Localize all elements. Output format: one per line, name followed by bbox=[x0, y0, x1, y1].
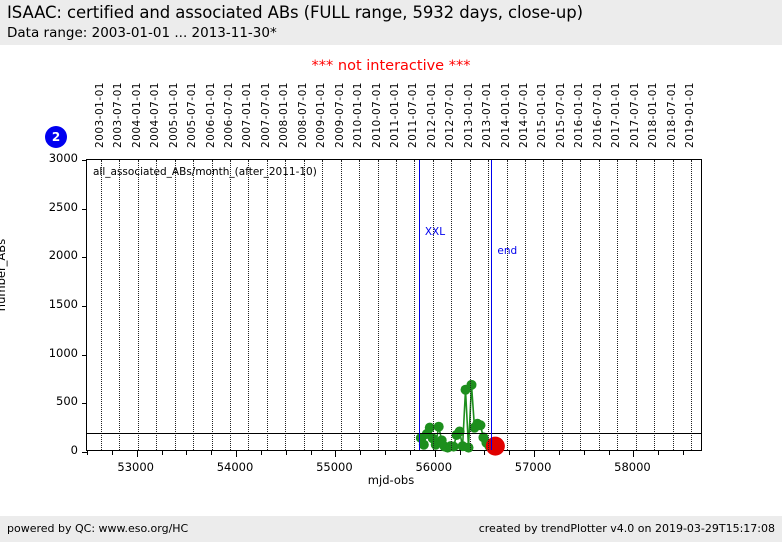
grid-line-vertical bbox=[378, 160, 379, 450]
x-axis-tick-label: 56000 bbox=[399, 460, 469, 474]
y-axis-tick-label: 500 bbox=[32, 394, 78, 408]
x-axis-date-tick-label: 2011-07-01 bbox=[407, 82, 419, 148]
grid-line-vertical bbox=[673, 160, 674, 450]
grid-line-vertical bbox=[230, 160, 231, 450]
x-axis-date-tick-label: 2003-01-01 bbox=[94, 82, 106, 148]
x-axis-date-tick-label: 2006-07-01 bbox=[223, 82, 235, 148]
x-axis-date-tick-label: 2017-01-01 bbox=[610, 82, 622, 148]
x-axis-date-tick-label: 2012-01-01 bbox=[426, 82, 438, 148]
x-axis-minor-tick bbox=[211, 450, 212, 455]
x-axis-date-tick-label: 2015-01-01 bbox=[536, 82, 548, 148]
grid-line-vertical bbox=[580, 160, 581, 450]
grid-line-vertical bbox=[654, 160, 655, 450]
x-axis-minor-tick bbox=[261, 450, 262, 455]
x-axis-tick-label: 53000 bbox=[101, 460, 171, 474]
grid-line-vertical bbox=[101, 160, 102, 450]
y-axis-tick-label: 3000 bbox=[32, 151, 78, 165]
annotation-vline-end bbox=[491, 160, 492, 450]
grid-line-vertical bbox=[322, 160, 323, 450]
x-axis-date-tick-label: 2014-01-01 bbox=[500, 82, 512, 148]
data-point bbox=[434, 422, 444, 432]
x-axis-tick-label: 54000 bbox=[200, 460, 270, 474]
grid-line-vertical bbox=[617, 160, 618, 450]
x-axis-date-tick-label: 2011-01-01 bbox=[389, 82, 401, 148]
footer-credit-left: powered by QC: www.eso.org/HC bbox=[7, 522, 188, 535]
grid-line-vertical bbox=[267, 160, 268, 450]
grid-line-vertical bbox=[433, 160, 434, 450]
x-axis-minor-tick bbox=[584, 450, 585, 455]
x-axis-minor-tick bbox=[186, 450, 187, 455]
x-axis-date-tick-label: 2007-07-01 bbox=[260, 82, 272, 148]
x-axis-tick-label: 57000 bbox=[498, 460, 568, 474]
y-axis-tick-label: 2500 bbox=[32, 200, 78, 214]
x-axis-tick bbox=[137, 450, 138, 457]
x-axis-date-tick-label: 2017-07-01 bbox=[629, 82, 641, 148]
grid-line-vertical bbox=[304, 160, 305, 450]
x-axis-date-tick-label: 2007-01-01 bbox=[241, 82, 253, 148]
annotation-vline-xxl bbox=[419, 160, 420, 450]
x-axis-date-tick-label: 2010-07-01 bbox=[371, 82, 383, 148]
x-axis-date-tick-label: 2004-01-01 bbox=[131, 82, 143, 148]
grid-line-vertical bbox=[138, 160, 139, 450]
x-axis-date-tick-label: 2016-07-01 bbox=[592, 82, 604, 148]
y-axis-tick bbox=[82, 452, 87, 453]
x-axis-tick bbox=[633, 450, 634, 457]
x-axis-date-tick-label: 2004-07-01 bbox=[149, 82, 161, 148]
y-axis-tick bbox=[82, 257, 87, 258]
grid-line-vertical bbox=[636, 160, 637, 450]
x-axis-date-tick-label: 2018-01-01 bbox=[647, 82, 659, 148]
x-axis-date-tick-label: 2019-01-01 bbox=[684, 82, 696, 148]
chart-plot-area: all_associated_ABs/month_(after_2011-10)… bbox=[86, 159, 702, 451]
x-axis-minor-tick bbox=[87, 450, 88, 455]
grid-line-vertical bbox=[451, 160, 452, 450]
x-axis-date-tick-label: 2008-01-01 bbox=[278, 82, 290, 148]
not-interactive-notice: *** not interactive *** bbox=[0, 58, 782, 74]
y-axis-tick-label: 2000 bbox=[32, 248, 78, 262]
x-axis-minor-tick bbox=[311, 450, 312, 455]
grid-line-vertical bbox=[212, 160, 213, 450]
data-point bbox=[475, 420, 485, 430]
y-axis-label: number_ABs bbox=[0, 239, 8, 311]
x-axis-tick-label: 58000 bbox=[597, 460, 667, 474]
grid-line-vertical bbox=[562, 160, 563, 450]
x-axis-minor-tick bbox=[683, 450, 684, 455]
grid-line-vertical bbox=[156, 160, 157, 450]
grid-line-vertical bbox=[248, 160, 249, 450]
grid-line-vertical bbox=[414, 160, 415, 450]
x-axis-date-tick-label: 2005-01-01 bbox=[168, 82, 180, 148]
grid-line-vertical bbox=[285, 160, 286, 450]
data-point bbox=[419, 440, 429, 450]
grid-line-vertical bbox=[488, 160, 489, 450]
grid-line-vertical bbox=[396, 160, 397, 450]
footer-credit-right: created by trendPlotter v4.0 on 2019-03-… bbox=[479, 522, 775, 535]
x-axis-minor-tick bbox=[484, 450, 485, 455]
page-title: ISAAC: certified and associated ABs (FUL… bbox=[7, 3, 583, 22]
x-axis-tick bbox=[335, 450, 336, 457]
data-point bbox=[464, 443, 474, 453]
grid-line-vertical bbox=[691, 160, 692, 450]
x-axis-date-tick-label: 2008-07-01 bbox=[297, 82, 309, 148]
x-axis-minor-tick bbox=[410, 450, 411, 455]
grid-line-vertical bbox=[525, 160, 526, 450]
y-axis-tick-label: 1500 bbox=[32, 297, 78, 311]
x-axis-date-tick-label: 2013-07-01 bbox=[481, 82, 493, 148]
grid-line-vertical bbox=[119, 160, 120, 450]
grid-line-vertical bbox=[507, 160, 508, 450]
x-axis-date-tick-label: 2018-07-01 bbox=[666, 82, 678, 148]
y-axis-tick bbox=[82, 160, 87, 161]
x-axis-date-tick-label: 2009-01-01 bbox=[315, 82, 327, 148]
x-axis-date-tick-label: 2015-07-01 bbox=[555, 82, 567, 148]
x-axis-tick bbox=[534, 450, 535, 457]
data-point bbox=[449, 442, 459, 452]
grid-line-vertical bbox=[175, 160, 176, 450]
x-axis-date-tick-label: 2013-01-01 bbox=[463, 82, 475, 148]
x-axis-minor-tick bbox=[360, 450, 361, 455]
x-axis-minor-tick bbox=[509, 450, 510, 455]
grid-line-vertical bbox=[359, 160, 360, 450]
x-axis-minor-tick bbox=[658, 450, 659, 455]
x-axis-date-tick-label: 2006-01-01 bbox=[205, 82, 217, 148]
threshold-line bbox=[87, 433, 701, 434]
grid-line-vertical bbox=[193, 160, 194, 450]
x-axis-minor-tick bbox=[286, 450, 287, 455]
x-axis-date-tick-label: 2009-07-01 bbox=[334, 82, 346, 148]
x-axis-minor-tick bbox=[559, 450, 560, 455]
data-point bbox=[467, 380, 477, 390]
grid-line-vertical bbox=[341, 160, 342, 450]
x-axis-minor-tick bbox=[385, 450, 386, 455]
x-axis-tick-label: 55000 bbox=[299, 460, 369, 474]
x-axis-date-tick-label: 2012-07-01 bbox=[444, 82, 456, 148]
x-axis-date-tick-label: 2005-07-01 bbox=[186, 82, 198, 148]
x-axis-date-tick-label: 2016-01-01 bbox=[573, 82, 585, 148]
y-axis-tick-label: 0 bbox=[32, 443, 78, 457]
y-axis-tick-label: 1000 bbox=[32, 346, 78, 360]
x-axis-label: mjd-obs bbox=[0, 473, 782, 487]
x-axis-minor-tick bbox=[162, 450, 163, 455]
x-axis-minor-tick bbox=[609, 450, 610, 455]
x-axis-tick bbox=[435, 450, 436, 457]
x-axis-minor-tick bbox=[112, 450, 113, 455]
x-axis-minor-tick bbox=[460, 450, 461, 455]
data-range-subtitle: Data range: 2003-01-01 ... 2013-11-30* bbox=[7, 25, 277, 41]
grid-line-vertical bbox=[543, 160, 544, 450]
grid-line-vertical bbox=[470, 160, 471, 450]
grid-line-vertical bbox=[599, 160, 600, 450]
y-axis-tick bbox=[82, 306, 87, 307]
y-axis-tick bbox=[82, 403, 87, 404]
x-axis-date-tick-label: 2014-07-01 bbox=[518, 82, 530, 148]
page-number-badge: 2 bbox=[45, 126, 67, 148]
y-axis-tick bbox=[82, 355, 87, 356]
x-axis-date-tick-label: 2010-01-01 bbox=[352, 82, 364, 148]
x-axis-tick bbox=[236, 450, 237, 457]
x-axis-date-tick-label: 2003-07-01 bbox=[112, 82, 124, 148]
y-axis-tick bbox=[82, 209, 87, 210]
